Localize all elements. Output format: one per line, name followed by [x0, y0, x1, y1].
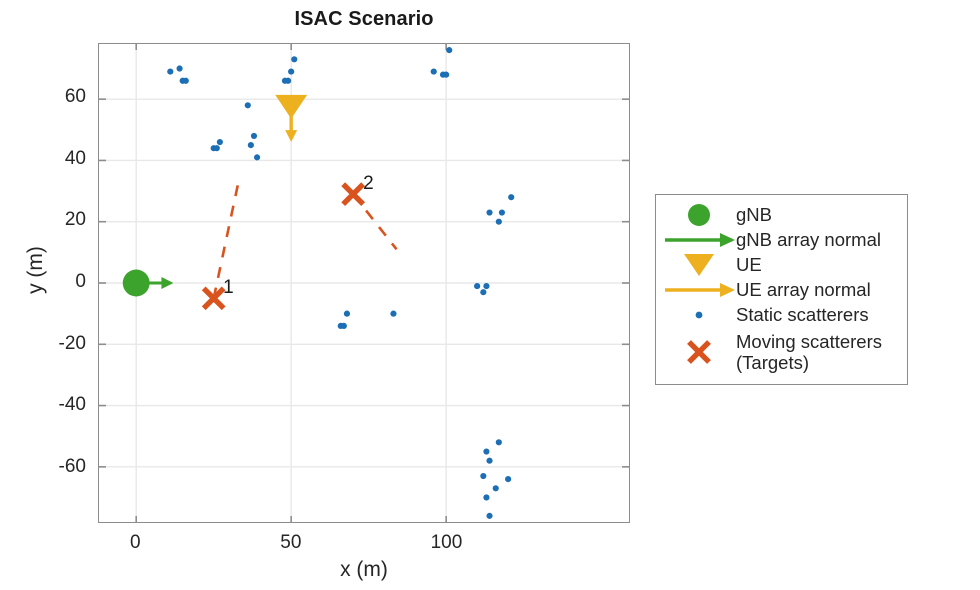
- legend-item-label: UE: [736, 254, 762, 275]
- ue-array-normal-arrow-icon: [662, 277, 736, 302]
- plot-area: [98, 43, 630, 523]
- legend-item-gnb-array-normal-arrow[interactable]: gNB array normal: [662, 227, 901, 252]
- gnb-circle-marker-icon: [662, 202, 736, 227]
- legend-item-label: Moving scatterers (Targets): [736, 331, 882, 374]
- legend-item-label: gNB array normal: [736, 229, 881, 250]
- legend-item-moving-scatterer-x[interactable]: Moving scatterers (Targets): [662, 327, 901, 377]
- legend-item-label: UE array normal: [736, 279, 871, 300]
- legend-item-ue-triangle-marker[interactable]: UE: [662, 252, 901, 277]
- gnb-array-normal-arrow-icon: [662, 227, 736, 252]
- legend-item-label: Static scatterers: [736, 304, 869, 325]
- legend-item-ue-array-normal-arrow[interactable]: UE array normal: [662, 277, 901, 302]
- moving-scatterer-x-icon: [662, 327, 736, 377]
- legend-item-static-scatterer-dot[interactable]: Static scatterers: [662, 302, 901, 327]
- y-tick-label: 40: [6, 148, 86, 170]
- x-tick-label: 0: [95, 532, 175, 554]
- legend-item-label: gNB: [736, 204, 772, 225]
- legend: gNBgNB array normalUEUE array normalStat…: [655, 194, 908, 385]
- data-layer: [99, 44, 629, 522]
- y-tick-label: -20: [6, 333, 86, 355]
- ue-triangle-marker-icon: [662, 252, 736, 277]
- static-scatterer-dot-icon: [662, 302, 736, 327]
- x-tick-label: 50: [251, 532, 331, 554]
- y-axis-label: y (m): [24, 210, 48, 330]
- x-axis-label: x (m): [98, 558, 630, 582]
- target-index-label: 2: [363, 173, 374, 195]
- isac-scenario-figure: ISAC Scenario 050100-60-40-200204060 x (…: [0, 0, 980, 590]
- y-tick-label: -40: [6, 394, 86, 416]
- target-index-label: 1: [223, 277, 234, 299]
- y-tick-label: 60: [6, 86, 86, 108]
- page-title: ISAC Scenario: [98, 8, 630, 31]
- x-tick-label: 100: [406, 532, 486, 554]
- y-tick-label: -60: [6, 456, 86, 478]
- legend-item-gnb-circle-marker[interactable]: gNB: [662, 202, 901, 227]
